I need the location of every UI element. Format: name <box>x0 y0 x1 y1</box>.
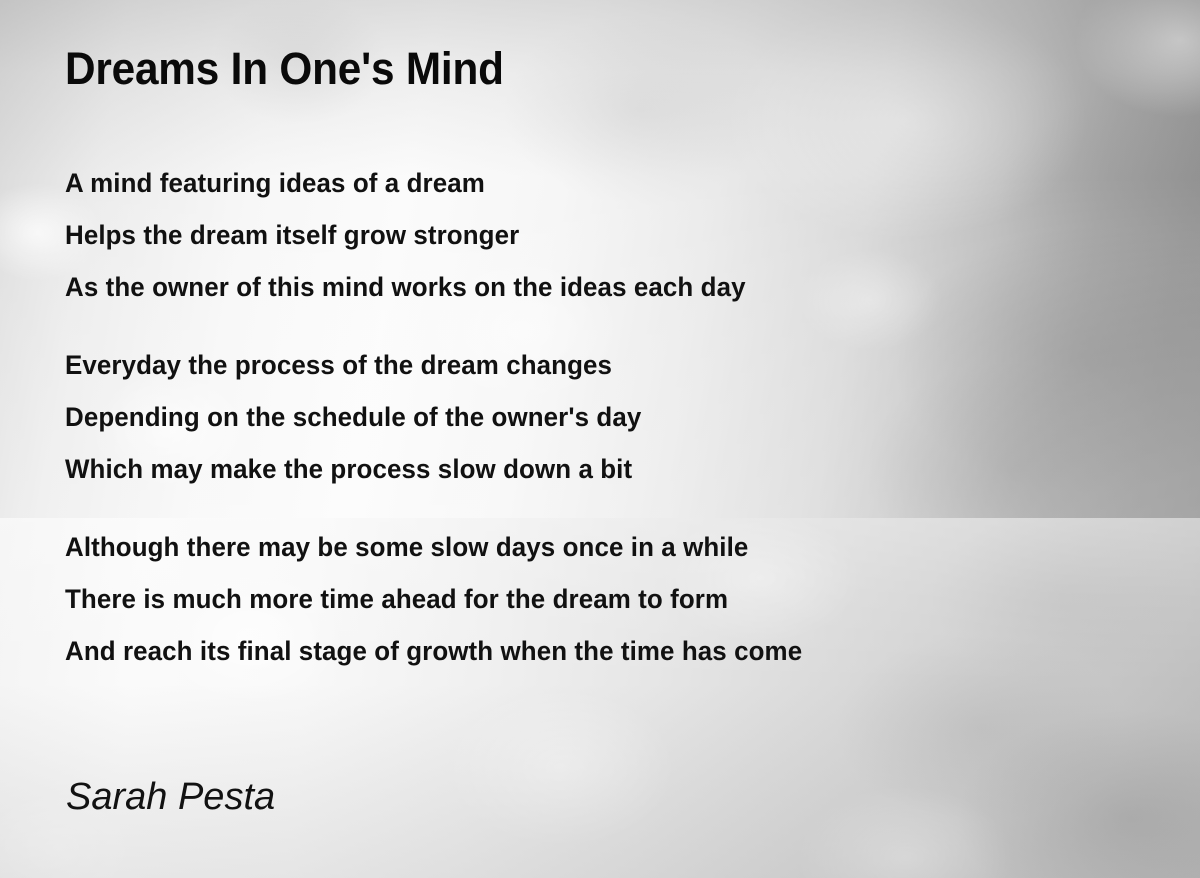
poem-line: A mind featuring ideas of a dream <box>65 157 1083 209</box>
poem-line: Everyday the process of the dream change… <box>65 339 1083 391</box>
poem-title: Dreams In One's Mind <box>65 46 504 91</box>
poem-stanza: Although there may be some slow days onc… <box>65 521 1125 677</box>
poem-author: Sarah Pesta <box>66 778 275 816</box>
poem-line: Helps the dream itself grow stronger <box>65 209 1083 261</box>
poem-line: Although there may be some slow days onc… <box>65 521 1083 573</box>
poem-line: There is much more time ahead for the dr… <box>65 573 1083 625</box>
poem-stanza: A mind featuring ideas of a dream Helps … <box>65 157 1125 313</box>
poem-body: A mind featuring ideas of a dream Helps … <box>65 157 1125 703</box>
poem-line: As the owner of this mind works on the i… <box>65 261 1083 313</box>
poem-line: And reach its final stage of growth when… <box>65 625 1083 677</box>
poem-stanza: Everyday the process of the dream change… <box>65 339 1125 495</box>
poem-line: Which may make the process slow down a b… <box>65 443 1083 495</box>
poem-content: Dreams In One's Mind A mind featuring id… <box>0 0 1200 878</box>
poem-card: Dreams In One's Mind A mind featuring id… <box>0 0 1200 878</box>
poem-line: Depending on the schedule of the owner's… <box>65 391 1083 443</box>
